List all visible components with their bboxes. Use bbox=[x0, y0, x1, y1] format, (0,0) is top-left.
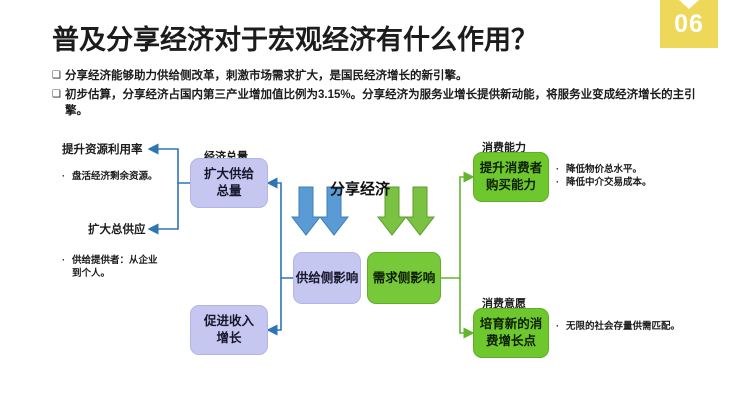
header-bullet-list: ❑ 分享经济能够助力供给侧改革，刺激市场需求扩大，是国民经济增长的新引擎。 ❑ … bbox=[52, 68, 712, 122]
note-left-bottom: · 供给提供者：从企业 到个人。 bbox=[62, 254, 158, 280]
down-arrow-icon bbox=[406, 187, 434, 235]
node-line-2: 增长 bbox=[216, 330, 241, 347]
node-raise-consumer-purchasing-power[interactable]: 提升消费者 购买能力 bbox=[473, 152, 549, 202]
note-bullet-icon: · bbox=[556, 163, 566, 176]
node-demand-side-impact[interactable]: 需求侧影响 bbox=[367, 252, 441, 304]
node-line-1: 提升消费者 bbox=[480, 160, 543, 177]
note-text: 到个人。 bbox=[72, 267, 110, 280]
node-line-2: 费增长点 bbox=[486, 333, 536, 350]
wire-supplyside-to-left-boxes bbox=[268, 183, 293, 330]
node-expand-supply-total[interactable]: 扩大供给 总量 bbox=[190, 158, 268, 208]
note-text: 无限的社会存量供需匹配。 bbox=[566, 320, 680, 333]
note-bullet-icon: · bbox=[556, 320, 566, 333]
note-left-top: · 盘活经济剩余资源。 bbox=[62, 170, 158, 183]
wire-demandside-to-right-boxes bbox=[441, 177, 473, 333]
node-line-2: 购买能力 bbox=[486, 177, 536, 194]
bullet-text: 分享经济能够助力供给侧改革，刺激市场需求扩大，是国民经济增长的新引擎。 bbox=[65, 68, 468, 84]
list-item: ❑ 分享经济能够助力供给侧改革，刺激市场需求扩大，是国民经济增长的新引擎。 bbox=[52, 68, 712, 84]
list-item: ❑ 初步估算，分享经济占国内第三产业增加值比例为3.15%。分享经济为服务业增长… bbox=[52, 87, 712, 119]
badge-notch-icon bbox=[679, 0, 699, 9]
down-arrow-icon bbox=[292, 187, 320, 235]
note-text: 供给提供者：从企业 bbox=[72, 254, 158, 267]
note-bullet-icon: · bbox=[62, 254, 72, 267]
node-line-1: 扩大供给 bbox=[204, 166, 254, 183]
slide-canvas: 06 普及分享经济对于宏观经济有什么作用？ ❑ 分享经济能够助力供给侧改革，刺激… bbox=[0, 0, 740, 416]
bullet-square-icon: ❑ bbox=[52, 87, 65, 103]
bullet-text: 初步估算，分享经济占国内第三产业增加值比例为3.15%。分享经济为服务业增长提供… bbox=[65, 87, 712, 119]
page-title: 普及分享经济对于宏观经济有什么作用？ bbox=[52, 18, 538, 57]
note-text: 降低物价总水平。 bbox=[566, 163, 642, 176]
slide-number-badge: 06 bbox=[660, 0, 718, 48]
node-line-2: 总量 bbox=[216, 183, 241, 200]
note-text: 降低中介交易成本。 bbox=[566, 176, 652, 189]
diagram-center-title: 分享经济 bbox=[330, 178, 390, 199]
note-text: 盘活经济剩余资源。 bbox=[72, 170, 158, 183]
node-line-1: 培育新的消 bbox=[480, 316, 543, 333]
bullet-square-icon: ❑ bbox=[52, 68, 65, 84]
node-supply-side-impact[interactable]: 供给侧影响 bbox=[293, 252, 361, 304]
label-expand-total-supply: 扩大总供应 bbox=[88, 221, 146, 237]
note-indent-spacer bbox=[62, 267, 72, 280]
note-bullet-icon: · bbox=[556, 176, 566, 189]
node-cultivate-new-consumption-growth-points[interactable]: 培育新的消 费增长点 bbox=[473, 308, 549, 358]
node-line-1: 促进收入 bbox=[204, 313, 254, 330]
label-improve-resource-utilization: 提升资源利用率 bbox=[62, 141, 143, 157]
note-right-bottom: · 无限的社会存量供需匹配。 bbox=[556, 320, 680, 333]
note-bullet-icon: · bbox=[62, 170, 72, 183]
note-right-top: · 降低物价总水平。 · 降低中介交易成本。 bbox=[556, 163, 652, 189]
node-promote-income-growth[interactable]: 促进收入 增长 bbox=[190, 305, 268, 355]
wire-supplybox-to-left-outcomes bbox=[149, 149, 190, 229]
flow-diagram: 分享经济 经济总量 扩大供给 总量 促进收入 增长 提升资源利用率 · 盘活经济… bbox=[0, 130, 740, 370]
